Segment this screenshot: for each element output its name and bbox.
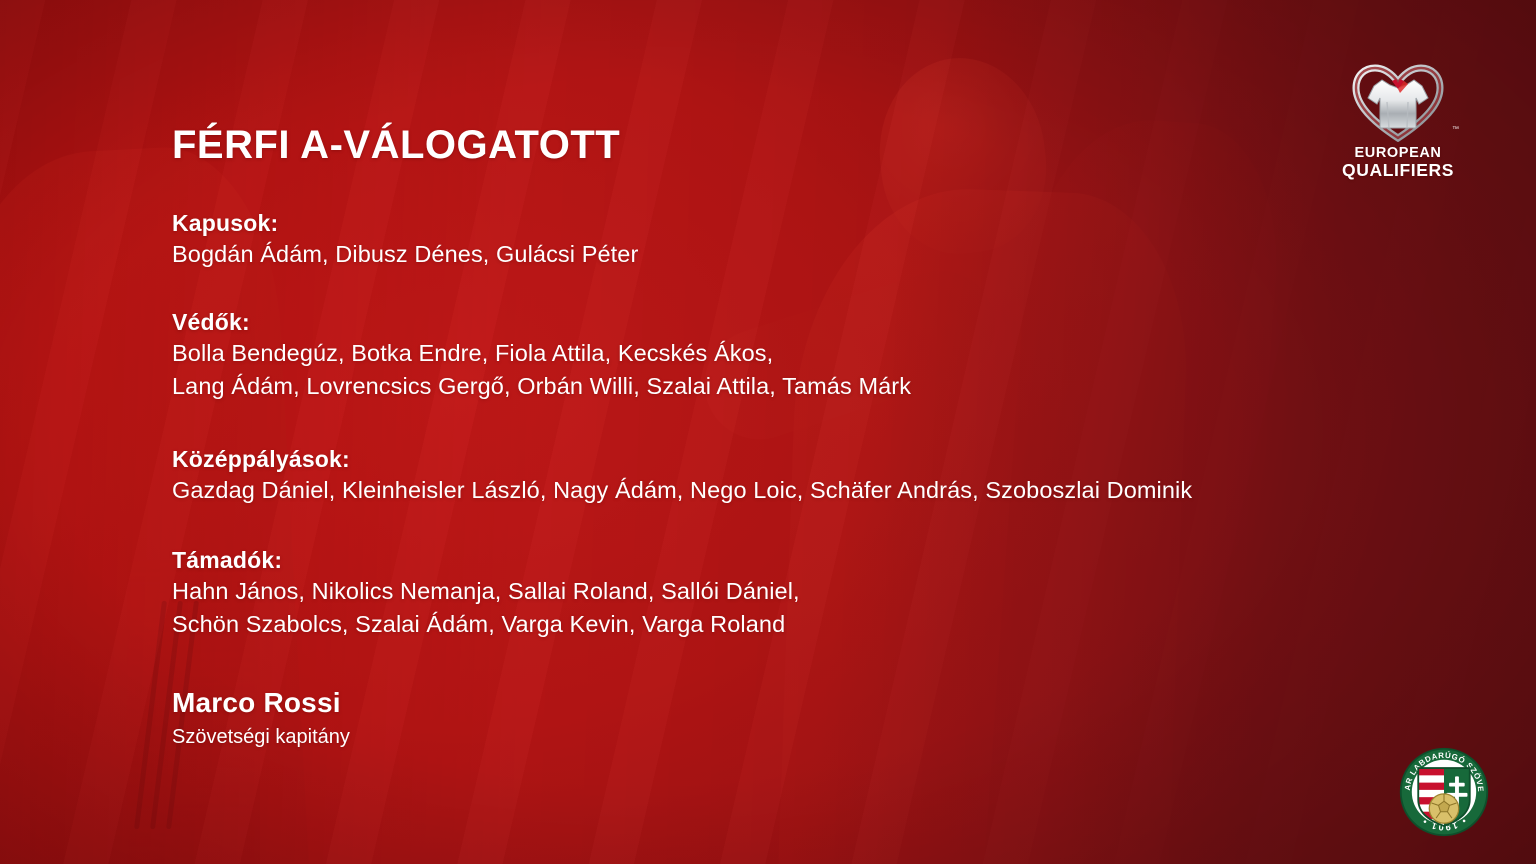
group-defenders: Védők: Bolla Bendegúz, Botka Endre, Fiol… <box>172 307 911 403</box>
group-heading-midfielders: Középpályások: <box>172 444 1192 474</box>
group-players-defenders-line-2: Lang Ádám, Lovrencsics Gergő, Orbán Will… <box>172 370 911 403</box>
squad-content: FÉRFI A-VÁLOGATOTT Kapusok: Bogdán Ádám,… <box>172 0 1392 864</box>
coach-block: Marco Rossi Szövetségi kapitány <box>172 684 350 752</box>
mlsz-crest-icon: MAGYAR LABDARÚGÓ SZÖVETSÉG • 1901 • <box>1398 746 1490 838</box>
group-forwards: Támadók: Hahn János, Nikolics Nemanja, S… <box>172 545 800 641</box>
group-players-defenders-line-1: Bolla Bendegúz, Botka Endre, Fiola Attil… <box>172 337 911 370</box>
group-heading-defenders: Védők: <box>172 307 911 337</box>
group-goalkeepers: Kapusok: Bogdán Ádám, Dibusz Dénes, Gulá… <box>172 208 638 271</box>
coach-name: Marco Rossi <box>172 684 350 722</box>
group-players-forwards-line-2: Schön Szabolcs, Szalai Ádám, Varga Kevin… <box>172 608 800 641</box>
european-qualifiers-line1: EUROPEAN <box>1334 146 1462 161</box>
coach-role: Szövetségi kapitány <box>172 722 350 752</box>
group-heading-forwards: Támadók: <box>172 545 800 575</box>
group-players-goalkeepers-line-1: Bogdán Ádám, Dibusz Dénes, Gulácsi Péter <box>172 238 638 271</box>
squad-announcement-graphic: FÉRFI A-VÁLOGATOTT Kapusok: Bogdán Ádám,… <box>0 0 1536 864</box>
group-midfielders: Középpályások: Gazdag Dániel, Kleinheisl… <box>172 444 1192 507</box>
group-players-midfielders-line-1: Gazdag Dániel, Kleinheisler László, Nagy… <box>172 474 1192 507</box>
european-qualifiers-line2: QUALIFIERS <box>1334 161 1462 180</box>
european-qualifiers-logo: ™ EUROPEAN QUALIFIERS <box>1334 58 1462 194</box>
trademark-symbol: ™ <box>1452 126 1459 133</box>
group-players-forwards-line-1: Hahn János, Nikolics Nemanja, Sallai Rol… <box>172 575 800 608</box>
heart-jersey-icon: ™ <box>1334 58 1462 142</box>
group-heading-goalkeepers: Kapusok: <box>172 208 638 238</box>
page-title: FÉRFI A-VÁLOGATOTT <box>172 125 620 165</box>
